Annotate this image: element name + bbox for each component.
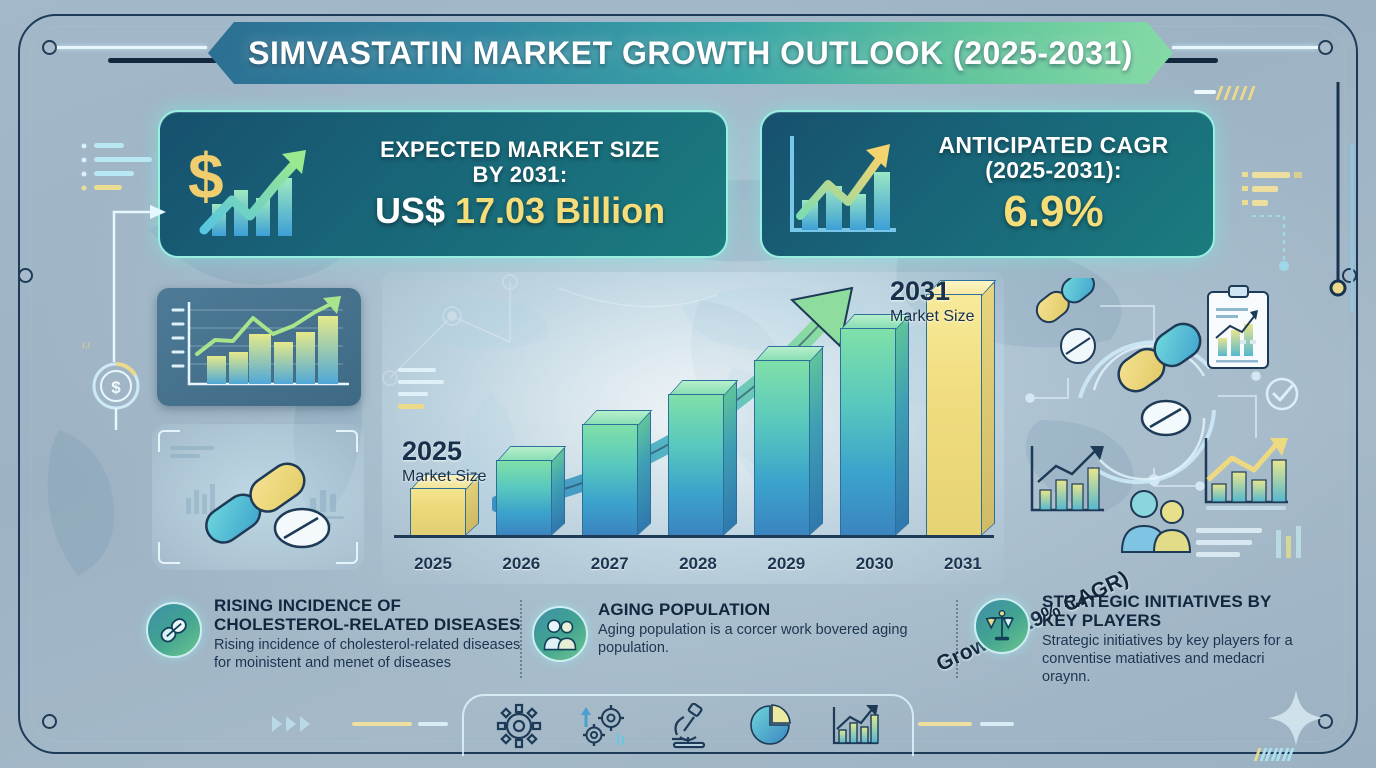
annotation-end-caption: Market Size [890, 308, 974, 326]
people-group-icon [532, 606, 588, 662]
kpi-value-cagr: 6.9% [908, 189, 1199, 235]
callout-3-title: STRATEGIC INITIATIVES BY KEY PLAYERS [1042, 592, 1296, 630]
x-label-2029: 2029 [753, 554, 819, 574]
kpi-card-market-size-text: EXPECTED MARKET SIZE BY 2031: US$ 17.03 … [324, 138, 712, 230]
bar-2028 [668, 394, 724, 536]
svg-text:$: $ [111, 378, 121, 397]
dollar-growth-chart-icon: $ [174, 124, 324, 244]
svg-text:ı,ı: ı,ı [82, 340, 90, 351]
frame-node-mid-right-icon [1342, 268, 1357, 283]
callout-aging-population: AGING POPULATION Aging population is a c… [532, 600, 912, 658]
annotation-end-year: 2031 [890, 278, 974, 305]
frame-accent-line-left [57, 46, 207, 49]
bottom-icon-strip [478, 700, 898, 756]
kpi-card-cagr-text: ANTICIPATED CAGR (2025-2031): 6.9% [904, 133, 1199, 236]
bracket-tl [158, 430, 180, 452]
bar-2030 [840, 328, 896, 536]
sparkle-star-icon [1268, 690, 1324, 746]
gear-icon [496, 703, 542, 754]
microscope-icon [664, 703, 712, 754]
annotation-end-market-size: 2031 Market Size [890, 278, 974, 326]
right-lower-decoration [1240, 330, 1330, 390]
annotation-start-caption: Market Size [402, 468, 486, 486]
bar-chart-arrow-icon [776, 124, 904, 244]
callout-2-desc: Aging population is a corcer work bovere… [598, 622, 912, 657]
callout-1-desc: Rising incidence of cholesterol-related … [214, 637, 538, 672]
bar-2026 [496, 460, 552, 536]
frame-accent-bar-left [108, 58, 218, 63]
annotation-start-market-size: 2025 Market Size [402, 438, 486, 486]
frame-accent-line-right [1172, 46, 1318, 49]
x-label-2028: 2028 [665, 554, 731, 574]
kpi-value-market-size: US$ 17.03 Billion [328, 192, 712, 230]
callout-strategic-initiatives: STRATEGIC INITIATIVES BY KEY PLAYERS Str… [976, 592, 1296, 686]
chart-baseline [394, 535, 994, 538]
frame-node-mid-left-icon [18, 268, 33, 283]
frame-node-top-left-icon [42, 40, 57, 55]
frame-node-bottom-left-icon [42, 714, 57, 729]
pill-capsule-icon [146, 602, 202, 658]
svg-text:$: $ [188, 140, 224, 212]
callout-1-body: RISING INCIDENCE OF CHOLESTEROL-RELATED … [148, 596, 538, 673]
kpi-value-number: 17.03 Billion [455, 190, 665, 231]
bar-2027 [582, 424, 638, 536]
frame-node-bottom-right-icon [1318, 714, 1333, 729]
frame-node-top-right-icon [1318, 40, 1333, 55]
callout-2-title: AGING POPULATION [598, 600, 912, 619]
scales-dollar-icon [974, 598, 1030, 654]
callout-2-body: AGING POPULATION Aging population is a c… [532, 600, 912, 658]
right-icon-cluster [1008, 278, 1348, 578]
callout-3-desc: Strategic initiatives by key players for… [1042, 633, 1296, 686]
bottom-right-decoration [908, 708, 1108, 748]
callout-rising-incidence: RISING INCIDENCE OF CHOLESTEROL-RELATED … [148, 596, 538, 673]
kpi-cagr-label-line1: ANTICIPATED CAGR [908, 133, 1199, 159]
x-label-2030: 2030 [842, 554, 908, 574]
bracket-br [336, 542, 358, 564]
header-banner: SIMVASTATIN MARKET GROWTH OUTLOOK (2025-… [208, 22, 1173, 84]
pill-tablet-illustration-panel [152, 424, 364, 570]
bracket-tr [336, 430, 358, 452]
bracket-bl [158, 542, 180, 564]
infographic-canvas: SIMVASTATIN MARKET GROWTH OUTLOOK (2025-… [0, 0, 1376, 768]
bar-2031 [926, 294, 982, 536]
x-label-2025: 2025 [400, 554, 466, 574]
kpi-card-cagr: ANTICIPATED CAGR (2025-2031): 6.9% [760, 110, 1215, 258]
kpi-label-line2: BY 2031: [328, 163, 712, 188]
bar-2025 [410, 488, 466, 536]
x-label-2031: 2031 [930, 554, 996, 574]
bar-chart-growth-icon [830, 703, 880, 754]
page-title: SIMVASTATIN MARKET GROWTH OUTLOOK (2025-… [248, 35, 1133, 72]
kpi-cagr-label-line2: (2025-2031): [908, 158, 1199, 184]
callout-1-title: RISING INCIDENCE OF CHOLESTEROL-RELATED … [214, 596, 538, 634]
mini-line-bar-chart-panel [157, 288, 361, 406]
gears-process-icon [578, 703, 628, 754]
pill-capsule-illustration-icon [152, 424, 364, 570]
bottom-left-decoration [268, 708, 468, 748]
x-label-2027: 2027 [577, 554, 643, 574]
kpi-card-market-size: $ EXPECTED MARKET SIZE BY 2031: US$ 17.0… [158, 110, 728, 258]
kpi-label-line1: EXPECTED MARKET SIZE [328, 138, 712, 163]
chart-x-axis-labels: 2025 2026 2027 2028 2029 2030 2031 [400, 554, 996, 574]
pie-chart-icon [748, 703, 794, 754]
annotation-start-year: 2025 [402, 438, 486, 465]
x-label-2026: 2026 [488, 554, 554, 574]
callout-divider-2 [956, 600, 958, 678]
bar-2029 [754, 360, 810, 536]
hatch-marks-bottom-right [1256, 748, 1292, 761]
kpi-value-currency: US$ [375, 190, 455, 231]
